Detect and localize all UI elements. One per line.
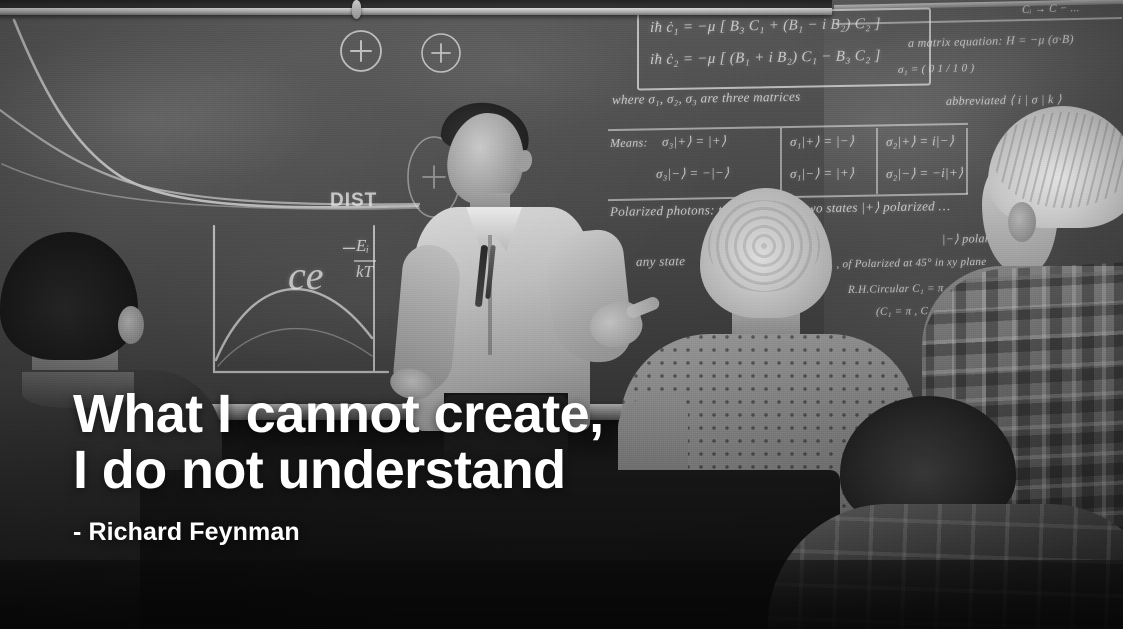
- quote-image: DIST ce − Eᵢ kT iħ ċ₁ = −μ [ B₃ C₁ + (B₁…: [0, 0, 1123, 629]
- pauli-relation: σ₃|−⟩ = −|−⟩: [656, 165, 729, 182]
- board-table-divider: [876, 128, 878, 194]
- student-center-hair-texture: [708, 200, 820, 292]
- pauli-relation: σ₁|−⟩ = |+⟩: [790, 165, 854, 182]
- quote-overlay: What I cannot create, I do not understan…: [73, 386, 773, 547]
- circled-plus-icon: [338, 28, 384, 74]
- blackboard-top-rail: [0, 8, 832, 15]
- chalk-label-dist: DIST: [330, 190, 377, 212]
- pauli-relation: σ₂|+⟩ = i|−⟩: [886, 133, 954, 150]
- board-annotation-abbreviation: σ₁ = ( 0 1 / 1 0 ): [898, 62, 974, 76]
- student-left-hair: [0, 232, 138, 360]
- board-table-divider: [780, 128, 782, 194]
- chalk-equation-numerator-energy: Eᵢ: [356, 236, 369, 256]
- person-richard-feynman: [404, 95, 654, 425]
- pauli-relation: σ₁|+⟩ = |−⟩: [790, 133, 854, 150]
- student-left-ear: [118, 306, 144, 344]
- board-annotation: Cᵢ → C − ...: [1022, 2, 1080, 16]
- foreground-shadow: [0, 560, 1123, 629]
- rail-clip-icon: [352, 0, 361, 19]
- chalk-equation-boltzmann-ce: ce: [288, 252, 324, 299]
- quote-line-1: What I cannot create,: [73, 386, 773, 442]
- pauli-relation: σ₃|+⟩ = |+⟩: [662, 133, 726, 150]
- distribution-plot-sketch: [196, 220, 406, 390]
- chalk-equation-denominator-kt: kT: [356, 262, 373, 282]
- quote-line-2: I do not understand: [73, 442, 773, 498]
- quote-attribution: - Richard Feynman: [73, 518, 773, 547]
- student-plaid-hair-texture: [994, 112, 1123, 208]
- student-plaid-ear: [1008, 202, 1036, 242]
- circled-plus-icon: [418, 30, 464, 76]
